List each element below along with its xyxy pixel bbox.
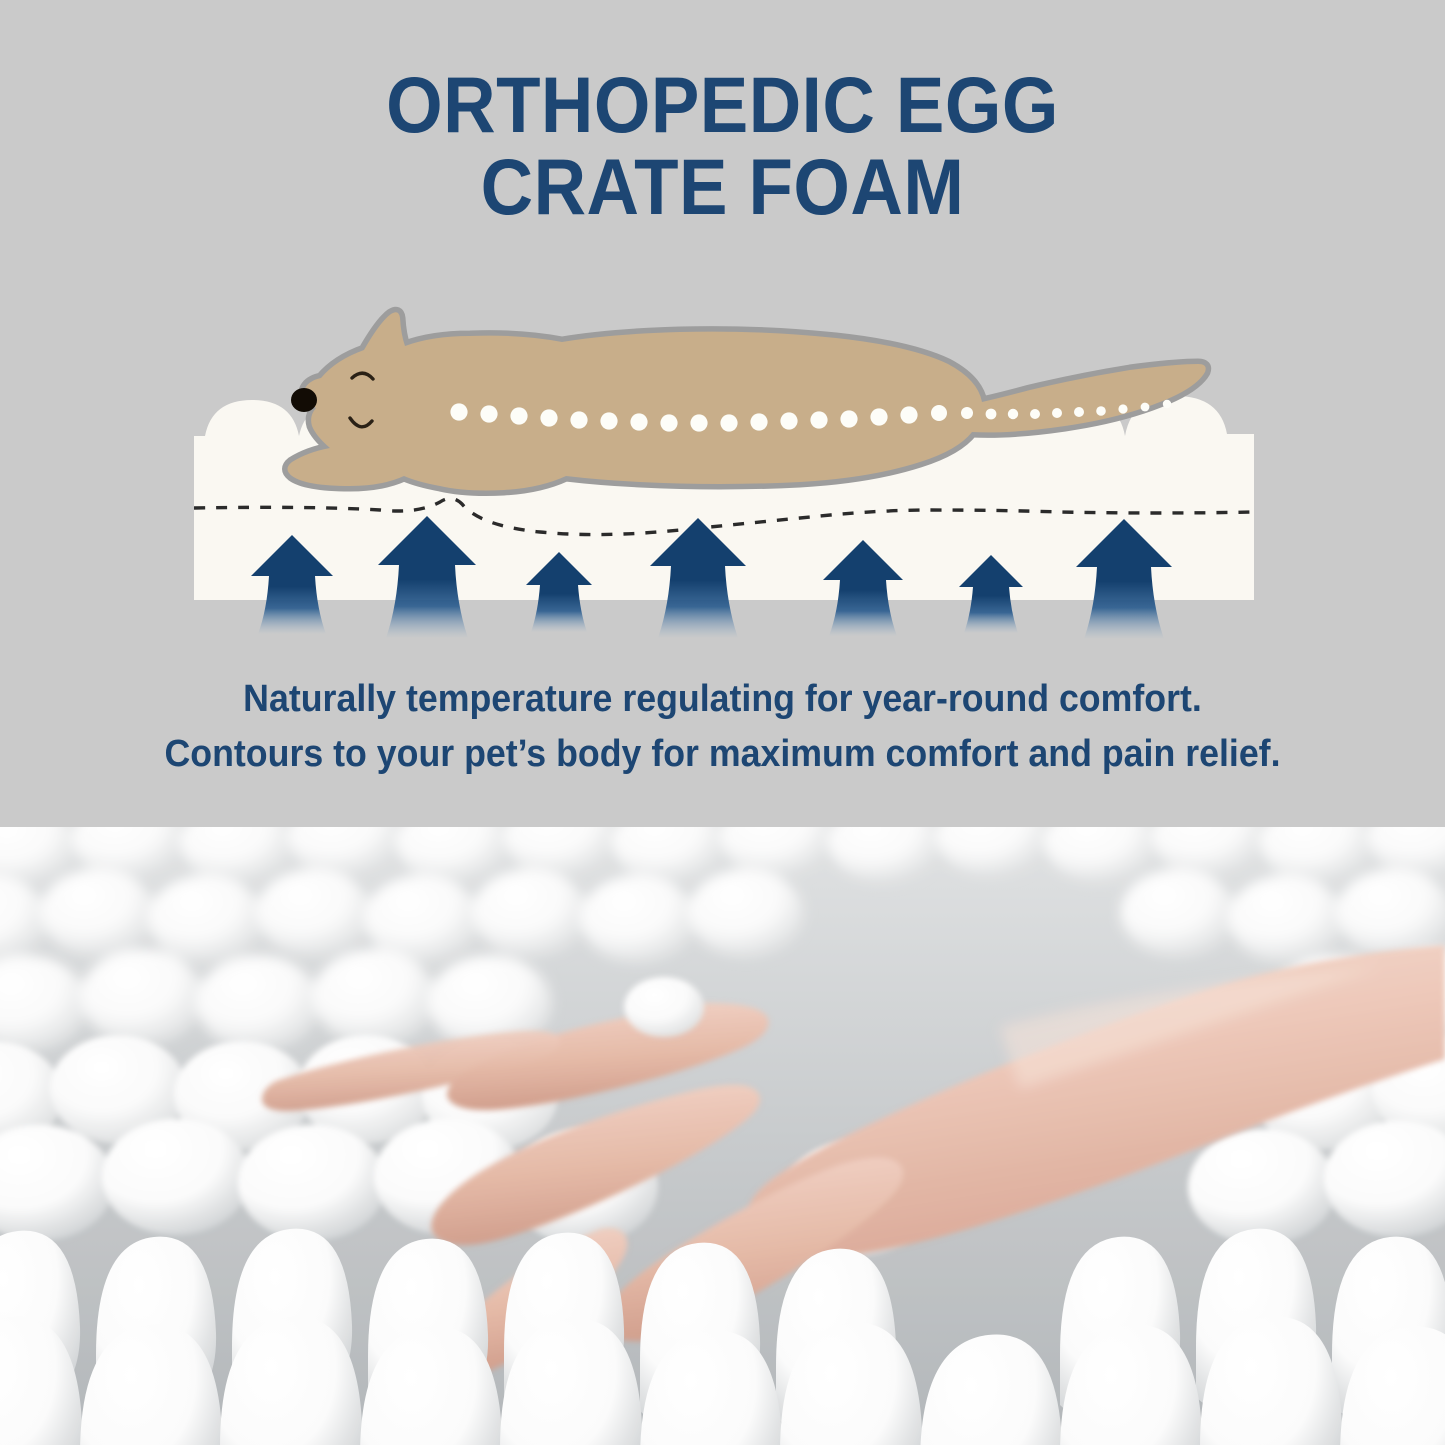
caption-line-2: Contours to your pet’s body for maximum … (43, 727, 1401, 782)
caption-line-1: Naturally temperature regulating for yea… (43, 672, 1401, 727)
page-title: ORTHOPEDIC EGG CRATE FOAM (58, 64, 1387, 228)
dog-nose (291, 388, 317, 412)
infographic-canvas: ORTHOPEDIC EGG CRATE FOAM (0, 0, 1445, 1445)
caption-block: Naturally temperature regulating for yea… (43, 672, 1401, 782)
dog-on-egg-crate-foam-diagram (0, 290, 1445, 660)
top-info-panel: ORTHOPEDIC EGG CRATE FOAM (0, 0, 1445, 827)
hand-pressing-egg-crate-foam-photo (0, 827, 1445, 1445)
